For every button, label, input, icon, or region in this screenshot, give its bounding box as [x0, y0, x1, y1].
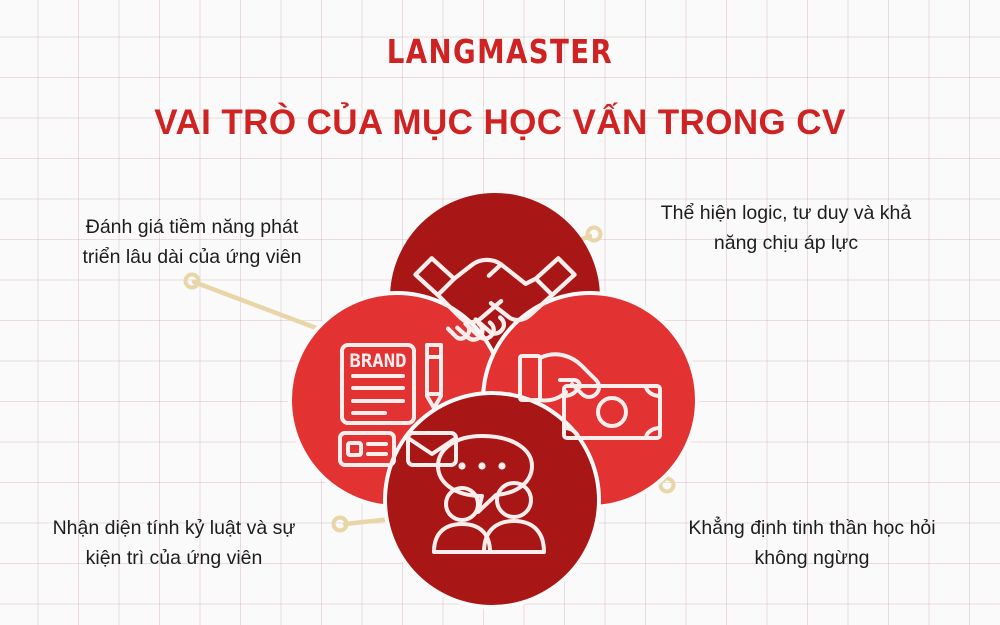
callout-bottom-left: Nhận diện tính kỷ luật và sự kiện trì củ… [14, 513, 334, 573]
connector-line [194, 282, 332, 334]
callout-bottom-right: Khẳng định tinh thần học hỏi không ngừng [652, 513, 972, 573]
bubble-dot [458, 462, 465, 469]
connector-endpoint-dot [334, 518, 347, 531]
brand-text: BRAND [349, 350, 406, 372]
connector-top-left [186, 275, 333, 335]
callout-top-right: Thể hiện logic, tư duy và khả năng chịu … [626, 198, 946, 258]
bubble-dot [498, 462, 505, 469]
callout-top-left: Đánh giá tiềm năng phát triển lâu dài củ… [42, 212, 342, 272]
infographic-page: LANGMASTER VAI TRÒ CỦA MỤC HỌC VẤN TRONG… [0, 0, 1000, 625]
connector-endpoint-dot [588, 228, 601, 241]
bubble-dot [478, 462, 485, 469]
